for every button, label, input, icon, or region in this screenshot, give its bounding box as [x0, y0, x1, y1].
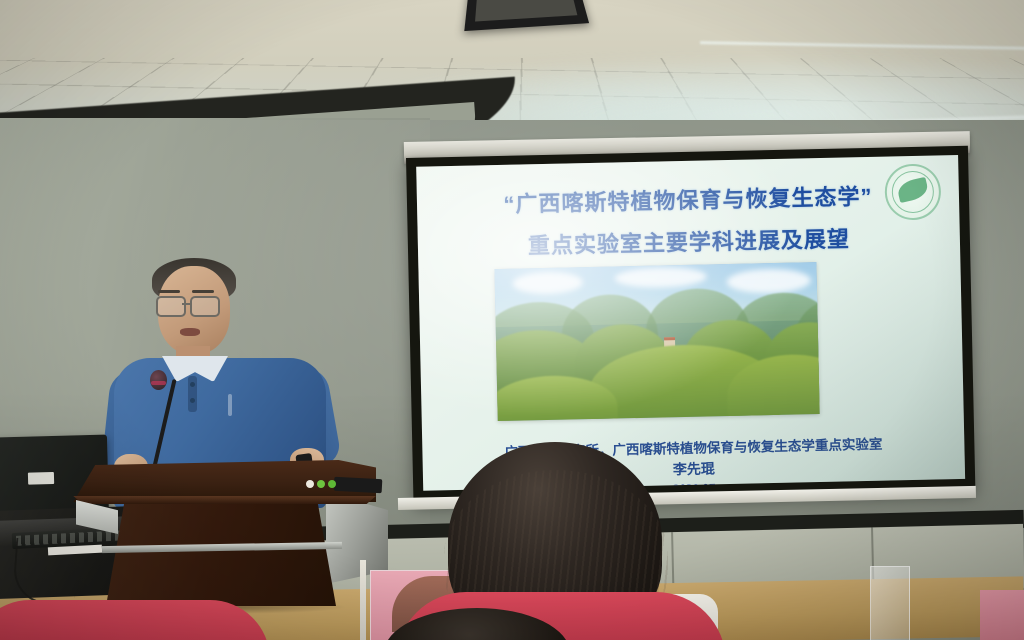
presenter-mouth	[180, 328, 200, 336]
podium-left-wing	[76, 500, 118, 534]
photo-haze	[494, 262, 819, 421]
presenter-pocket-trim	[228, 394, 232, 416]
glasses-lens-left	[156, 296, 186, 317]
presenter-eyebrow	[192, 290, 214, 293]
ceiling-projector-mount	[464, 0, 589, 31]
projection-screen: “广西喀斯特植物保育与恢复生态学” 重点实验室主要学科进展及展望	[406, 146, 975, 502]
slide-title: “广西喀斯特植物保育与恢复生态学” 重点实验室主要学科进展及展望	[417, 177, 960, 263]
chair-red-left	[0, 600, 270, 640]
acrylic-panel	[870, 566, 910, 640]
monitor-label	[28, 472, 54, 485]
microphone-icon	[150, 370, 167, 390]
podium-led-green-1	[317, 480, 325, 488]
presenter-eyebrow	[158, 290, 180, 293]
presentation-slide: “广西喀斯特植物保育与恢复生态学” 重点实验室主要学科进展及展望	[416, 155, 965, 491]
lectern-podium	[58, 452, 388, 612]
podium-led-power	[306, 480, 314, 488]
slide-title-line1: “广西喀斯特植物保育与恢复生态学”	[503, 184, 872, 217]
slide-title-line2: 重点实验室主要学科进展及展望	[418, 219, 961, 263]
podium-led-green-2	[328, 480, 336, 488]
microphone-ring	[151, 381, 166, 385]
podium-control-panel[interactable]	[334, 477, 383, 493]
karst-landscape-photo	[494, 262, 819, 421]
podium-top-edge	[64, 496, 376, 504]
chair-backrest-pink-right	[980, 590, 1024, 640]
chair-frame-post	[360, 560, 366, 640]
lecture-hall-photo: “广西喀斯特植物保育与恢复生态学” 重点实验室主要学科进展及展望	[0, 0, 1024, 640]
projection-surface: “广西喀斯特植物保育与恢复生态学” 重点实验室主要学科进展及展望	[416, 155, 965, 491]
glasses-lens-right	[190, 296, 220, 317]
podium-body	[106, 502, 336, 606]
glasses-bridge	[182, 303, 190, 305]
ceiling-light-strip	[700, 41, 1024, 50]
